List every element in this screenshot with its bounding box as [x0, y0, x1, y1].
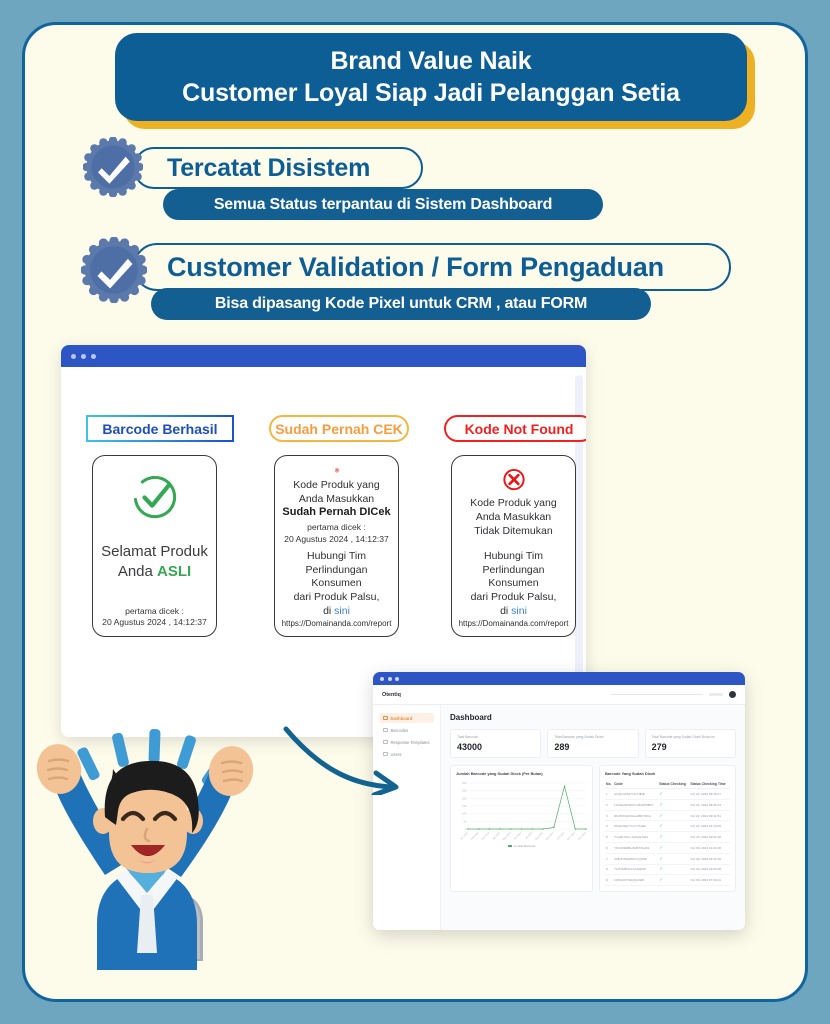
svg-text:150: 150: [462, 804, 467, 808]
card-checked-stamp-label: pertama dicek :: [307, 522, 366, 533]
window-dot-minimize-icon[interactable]: [81, 354, 86, 359]
table-row[interactable]: 2LC9dwQHWCFmBvRTBBhY✓Oct 22, 2024 08:30:…: [605, 799, 730, 810]
table-cell-time: Oct 22, 2024 04:44:05: [689, 821, 730, 832]
table-cell-time: Oct 09, 2024 18:33:18: [689, 853, 730, 864]
table-cell-no: 3: [605, 810, 613, 821]
table-cell-code: RbJP2OsFbhGw2BFYRhA: [613, 810, 658, 821]
table-cell-code: TmQDYWm.JA9qQ7bZJ: [613, 832, 658, 843]
stat-label: Total Barcode: [457, 735, 534, 739]
card-notfound-contact2: Perlindungan Konsumen: [459, 564, 568, 592]
svg-text:May 2024: May 2024: [502, 831, 512, 841]
svg-text:Apr 2024: Apr 2024: [492, 831, 501, 840]
card-notfound-contact3: dari Produk Palsu,: [471, 591, 557, 605]
card-checked-line2: Anda Masukkan: [299, 493, 374, 507]
header-pill: Brand Value Naik Customer Loyal Siap Jad…: [115, 33, 747, 121]
dashboard-window-mock: Otentiq Dashboard Barcodes Response Temp…: [373, 672, 745, 930]
card-checked-url[interactable]: https://Domainanda.com/report: [282, 619, 392, 628]
green-check-circle-icon: [132, 474, 178, 520]
svg-text:Nov 2024: Nov 2024: [567, 831, 577, 841]
browser-titlebar: [61, 345, 586, 367]
dashboard-topbar-right: [611, 691, 736, 698]
table-cell-time: Oct 22, 2024 08:30:17: [689, 789, 730, 800]
sidebar-item-dashboard[interactable]: Dashboard: [379, 713, 434, 723]
chart-legend: Jumlah Barcode: [456, 844, 587, 848]
table-row[interactable]: 4ZbbdshWjYVmYYAdab✓Oct 22, 2024 04:44:05: [605, 821, 730, 832]
curved-arrow-icon: [280, 725, 410, 795]
dashboard-brand: Otentiq: [382, 692, 401, 698]
table-cell-time: Oct 23, 2024 09:51:48: [689, 832, 730, 843]
card-checked-line1: Kode Produk yang: [293, 479, 379, 493]
result-card-success: Selamat Produk Anda ASLI pertama dicek :…: [92, 455, 217, 637]
stat-value: 43000: [457, 742, 534, 752]
home-icon: [383, 716, 388, 721]
header-title-line1: Brand Value Naik: [182, 45, 680, 77]
feature-2-subtitle: Bisa dipasang Kode Pixel untuk CRM , ata…: [215, 295, 587, 313]
table-body: 1AQ3pm2X97mV7JBdb✓Oct 22, 2024 08:30:172…: [605, 789, 730, 886]
table-column-header: No.: [605, 780, 613, 789]
dashboard-main: Dashboard Barcodes Response Templates Us…: [373, 705, 745, 930]
svg-text:200: 200: [462, 796, 467, 800]
table-cell-no: 5: [605, 832, 613, 843]
table-cell-code: LC9dwQHWCFmBvRTBBhY: [613, 799, 658, 810]
verified-badge-icon: [83, 137, 143, 197]
card-success-line2-pre: Anda: [118, 563, 157, 580]
line-chart: 050100150200250300 Jan 2024Feb 2024Mar 2…: [456, 780, 589, 842]
result-card-not-found: Kode Produk yang Anda Masukkan Tidak Dit…: [451, 455, 576, 637]
card-success-footer-value: 20 Agustus 2024 , 14:12:37: [102, 617, 207, 628]
card-success-footer-label: pertama dicek :: [125, 606, 184, 617]
card-checked-link-sini[interactable]: sini: [334, 605, 350, 617]
feature-1-subtitle-pill: Semua Status terpantau di Sistem Dashboa…: [163, 189, 603, 220]
stat-card-checked: Total Barcode yang Sudah Dicek 289: [547, 729, 638, 758]
feature-1-subtitle: Semua Status terpantau di Sistem Dashboa…: [214, 196, 552, 214]
feature-2-subtitle-pill: Bisa dipasang Kode Pixel untuk CRM , ata…: [151, 288, 651, 320]
svg-text:300: 300: [462, 781, 467, 785]
svg-text:Aug 2024: Aug 2024: [534, 831, 544, 841]
dashboard-topbar: Otentiq: [373, 685, 745, 705]
card-success-asli: ASLI: [157, 563, 191, 580]
celebrating-person-illustration: [22, 725, 279, 987]
table-cell-code: 4XBJOHRdWrX7yQWD: [613, 853, 658, 864]
red-x-circle-icon: [493, 468, 535, 491]
stat-card-total-barcode: Total Barcode 43000: [450, 729, 541, 758]
topbar-button[interactable]: [709, 693, 723, 696]
card-notfound-line3: Tidak Ditemukan: [474, 525, 552, 539]
status-badge-already-checked: Sudah Pernah CEK: [269, 415, 409, 442]
table-cell-time: Oct 09, 2024 14:21:08: [689, 842, 730, 853]
table-row[interactable]: 74XBJOHRdWrX7yQWD✓Oct 09, 2024 18:33:18: [605, 853, 730, 864]
svg-text:Jul 2024: Jul 2024: [525, 831, 534, 840]
table-row[interactable]: 87LJOSMH2dmXJjQbW✓Oct 09, 2024 18:53:08: [605, 864, 730, 875]
card-checked-contact3: dari Produk Palsu,: [294, 591, 380, 605]
table-cell-time: Oct 09, 2024 18:53:08: [689, 864, 730, 875]
table-column-header: Status Checking: [658, 780, 689, 789]
table-cell-no: 4: [605, 821, 613, 832]
table-cell-no: 7: [605, 853, 613, 864]
table-row[interactable]: 5TmQDYWm.JA9qQ7bZJ✓Oct 23, 2024 09:51:48: [605, 832, 730, 843]
table-cell-no: 8: [605, 864, 613, 875]
table-cell-no: 9: [605, 875, 613, 886]
chart-panel: Jumlah Barcode yang Sudah Dicek (Per Bul…: [450, 765, 593, 892]
table-row[interactable]: 3RbJP2OsFbhGw2BFYRhA✓Oct 22, 2024 09:41:…: [605, 810, 730, 821]
dashboard-titlebar: [373, 672, 745, 685]
status-check-icon: ✓: [658, 789, 689, 800]
card-checked-line3: Sudah Pernah DICek: [282, 506, 390, 518]
table-panel: Barcode Yang Sudah Dicek No.CodeStatus C…: [599, 765, 736, 892]
search-input[interactable]: [611, 694, 703, 696]
chart-title: Jumlah Barcode yang Sudah Dicek (Per Bul…: [456, 771, 587, 776]
feature-2-title-pill: Customer Validation / Form Pengaduan: [133, 243, 731, 291]
card-success-line2: Anda ASLI: [118, 562, 191, 582]
status-check-icon: ✓: [658, 832, 689, 843]
avatar[interactable]: [729, 691, 736, 698]
sidebar-item-label: Dashboard: [391, 716, 413, 721]
status-check-icon: ✓: [658, 842, 689, 853]
svg-text:Mar 2024: Mar 2024: [481, 831, 491, 841]
header-title-line2: Customer Loyal Siap Jadi Pelanggan Setia: [182, 77, 680, 109]
card-notfound-link-sini[interactable]: sini: [511, 605, 527, 617]
table-cell-code: 7LJOSMH2dmXJjQbW: [613, 864, 658, 875]
svg-text:Dec 2024: Dec 2024: [577, 831, 587, 841]
stat-card-group: Total Barcode 43000 Total Barcode yang S…: [450, 729, 736, 758]
stat-card-checked-this-month: Total Barcode yang Sudah Dicek Bulan ini…: [645, 729, 736, 758]
stat-label: Total Barcode yang Sudah Dicek: [554, 735, 631, 739]
table-row[interactable]: 1AQ3pm2X97mV7JBdb✓Oct 22, 2024 08:30:17: [605, 789, 730, 800]
table-cell-time: Oct 22, 2024 09:41:51: [689, 810, 730, 821]
table-row[interactable]: 9bQ5GtWT4kQQcAWb✓Oct 09, 2024 07:30:41: [605, 875, 730, 886]
table-column-header: Code: [613, 780, 658, 789]
svg-text:Feb 2024: Feb 2024: [470, 831, 480, 841]
card-notfound-contact4: di sini: [500, 605, 527, 619]
svg-text:Jun 2024: Jun 2024: [513, 831, 523, 841]
dashboard-content: Dashboard Total Barcode 43000 Total Barc…: [441, 705, 745, 930]
window-dot-close-icon[interactable]: [380, 677, 384, 681]
table-cell-no: 1: [605, 789, 613, 800]
status-check-icon: ✓: [658, 821, 689, 832]
feature-1-title: Tercatat Disistem: [167, 154, 370, 183]
card-notfound-line2: Anda Masukkan: [476, 511, 551, 525]
svg-text:250: 250: [462, 789, 467, 793]
legend-label: Jumlah Barcode: [514, 844, 536, 848]
feature-1-title-pill: Tercatat Disistem: [133, 147, 423, 189]
barcode-table: No.CodeStatus CheckingStatus Checking Ti…: [605, 780, 730, 886]
card-notfound-contact4-pre: di: [500, 605, 511, 617]
card-checked-contact4-pre: di: [323, 605, 334, 617]
card-notfound-contact1: Hubungi Tim: [484, 550, 543, 564]
svg-text:Jan 2024: Jan 2024: [460, 831, 470, 841]
status-check-icon: ✓: [658, 810, 689, 821]
window-dot-maximize-icon[interactable]: [395, 677, 399, 681]
card-checked-contact4: di sini: [323, 605, 350, 619]
card-success-line1: Selamat Produk: [101, 542, 208, 562]
card-notfound-url[interactable]: https://Domainanda.com/report: [459, 619, 569, 628]
status-check-icon: ✓: [658, 853, 689, 864]
table-cell-code: AQ3pm2X97mV7JBdb: [613, 789, 658, 800]
red-x-circle-icon: [316, 468, 358, 473]
stat-label: Total Barcode yang Sudah Dicek Bulan ini: [652, 735, 729, 739]
table-title: Barcode Yang Sudah Dicek: [605, 771, 730, 776]
table-row[interactable]: 6YFQJ09MRUAbBTXLkD1✓Oct 09, 2024 14:21:0…: [605, 842, 730, 853]
stat-value: 289: [554, 742, 631, 752]
dashboard-lower-row: Jumlah Barcode yang Sudah Dicek (Per Bul…: [450, 765, 736, 892]
stat-value: 279: [652, 742, 729, 752]
card-checked-stamp-value: 20 Agustus 2024 , 14:12:37: [284, 534, 389, 545]
table-header-row: No.CodeStatus CheckingStatus Checking Ti…: [605, 780, 730, 789]
card-checked-contact1: Hubungi Tim: [307, 550, 366, 564]
window-dot-close-icon[interactable]: [71, 354, 76, 359]
legend-swatch: [508, 845, 512, 846]
status-check-icon: ✓: [658, 799, 689, 810]
svg-text:0: 0: [465, 827, 467, 831]
table-column-header: Status Checking Time: [689, 780, 730, 789]
result-card-already-checked: Kode Produk yang Anda Masukkan Sudah Per…: [274, 455, 399, 637]
status-badge-not-found: Kode Not Found: [444, 415, 586, 442]
svg-text:100: 100: [462, 812, 467, 816]
table-cell-code: ZbbdshWjYVmYYAdab: [613, 821, 658, 832]
table-cell-code: bQ5GtWT4kQQcAWb: [613, 875, 658, 886]
table-cell-no: 2: [605, 799, 613, 810]
verified-badge-icon: [81, 237, 147, 303]
page-title: Dashboard: [450, 713, 736, 722]
card-notfound-line1: Kode Produk yang: [470, 497, 556, 511]
status-check-icon: ✓: [658, 864, 689, 875]
svg-text:50: 50: [464, 819, 467, 823]
card-checked-contact2: Perlindungan Konsumen: [282, 564, 391, 592]
table-cell-time: Oct 09, 2024 07:30:41: [689, 875, 730, 886]
svg-text:Oct 2024: Oct 2024: [556, 831, 565, 840]
window-dot-minimize-icon[interactable]: [388, 677, 392, 681]
window-dot-maximize-icon[interactable]: [91, 354, 96, 359]
status-check-icon: ✓: [658, 875, 689, 886]
table-cell-time: Oct 22, 2024 08:30:44: [689, 799, 730, 810]
table-cell-no: 6: [605, 842, 613, 853]
feature-2-title: Customer Validation / Form Pengaduan: [167, 252, 664, 283]
svg-text:Sep 2024: Sep 2024: [545, 831, 555, 841]
table-cell-code: YFQJ09MRUAbBTXLkD1: [613, 842, 658, 853]
status-badge-success: Barcode Berhasil: [86, 415, 234, 442]
